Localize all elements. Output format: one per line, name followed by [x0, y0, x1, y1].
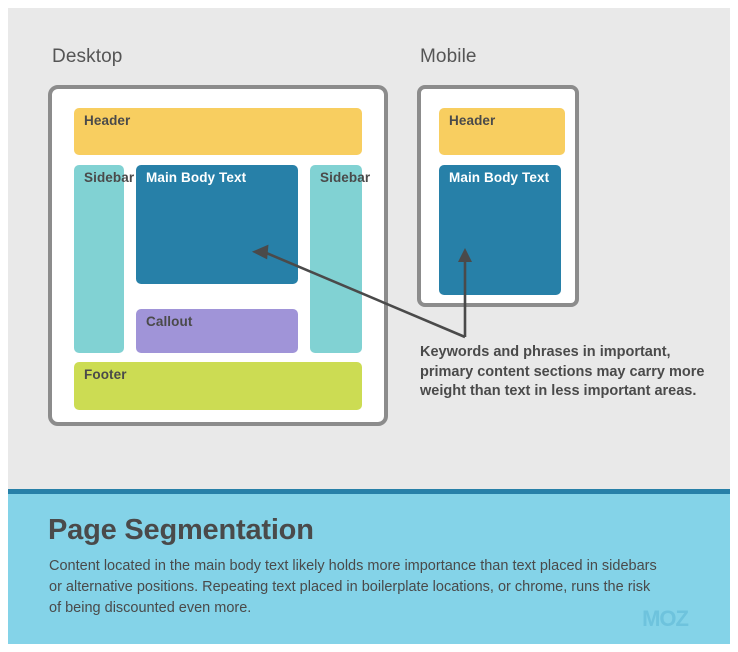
desktop-block-main-body-label: Main Body Text: [146, 170, 246, 185]
desktop-block-callout: Callout: [136, 309, 298, 353]
mobile-block-header-label: Header: [449, 113, 495, 128]
desktop-block-header-label: Header: [84, 113, 130, 128]
moz-logo: MOZ: [642, 606, 688, 632]
desktop-block-sidebar-right: Sidebar: [310, 165, 362, 353]
caption-title: Page Segmentation: [48, 514, 314, 547]
caption-body: Content located in the main body text li…: [49, 556, 659, 619]
mobile-block-main-body: Main Body Text: [439, 165, 561, 295]
mobile-block-header: Header: [439, 108, 565, 155]
desktop-block-callout-label: Callout: [146, 314, 192, 329]
mobile-label: Mobile: [420, 46, 477, 68]
caption-band: Page Segmentation Content located in the…: [8, 494, 730, 644]
desktop-block-footer-label: Footer: [84, 367, 127, 382]
desktop-block-sidebar-left-label: Sidebar: [84, 170, 134, 185]
infographic-canvas: Desktop Mobile Header Sidebar Main Body …: [0, 0, 738, 652]
desktop-block-sidebar-left: Sidebar: [74, 165, 124, 353]
desktop-block-sidebar-right-label: Sidebar: [320, 170, 370, 185]
mobile-block-main-body-label: Main Body Text: [449, 170, 549, 185]
diagram-area: Desktop Mobile Header Sidebar Main Body …: [8, 8, 730, 489]
mobile-device-frame: Header Main Body Text: [417, 85, 579, 307]
annotation-text: Keywords and phrases in important, prima…: [420, 343, 710, 402]
desktop-device-frame: Header Sidebar Main Body Text Sidebar Ca…: [48, 85, 388, 426]
desktop-block-main-body: Main Body Text: [136, 165, 298, 284]
desktop-block-header: Header: [74, 108, 362, 155]
desktop-block-footer: Footer: [74, 362, 362, 410]
desktop-label: Desktop: [52, 46, 122, 68]
